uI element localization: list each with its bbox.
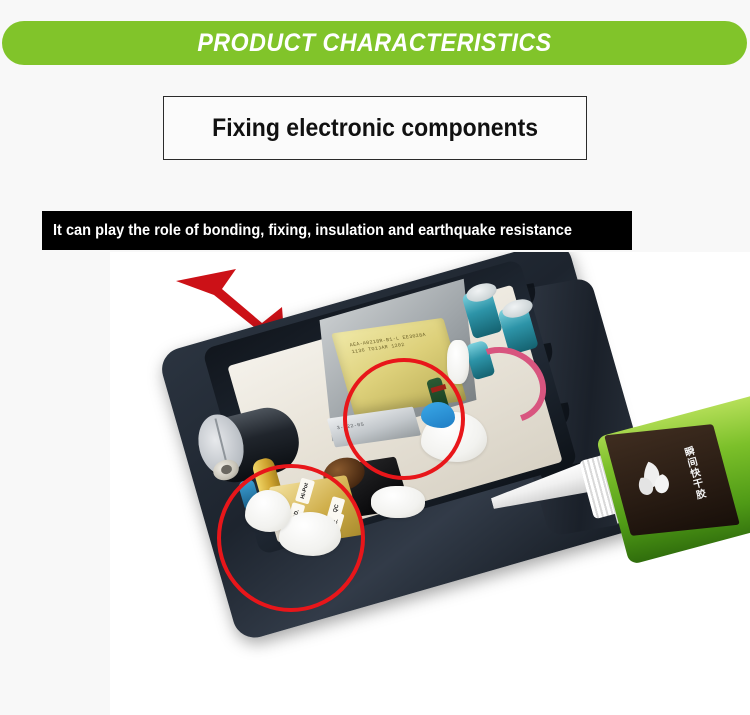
- adhesive-bead-lower: [371, 486, 425, 518]
- adhesive-tube: 瞬间快干胶: [490, 402, 750, 577]
- subheading-text: Fixing electronic components: [212, 114, 538, 143]
- caption-bar: It can play the role of bonding, fixing,…: [42, 211, 632, 250]
- highlight-circle-lower: [217, 464, 365, 612]
- adhesive-bead-upper: [447, 340, 469, 384]
- page-title: PRODUCT CHARACTERISTICS: [197, 29, 551, 58]
- subheading-box: Fixing electronic components: [163, 96, 587, 160]
- highlight-circle-upper: [343, 358, 465, 480]
- caption-text: It can play the role of bonding, fixing,…: [53, 222, 572, 240]
- product-characteristics-page: PRODUCT CHARACTERISTICS Fixing electroni…: [0, 0, 750, 715]
- header-banner: PRODUCT CHARACTERISTICS: [2, 21, 747, 65]
- product-photo: AEA-A0218R-B1-L EE3028A 1136 TO1JAR 1202…: [110, 252, 750, 715]
